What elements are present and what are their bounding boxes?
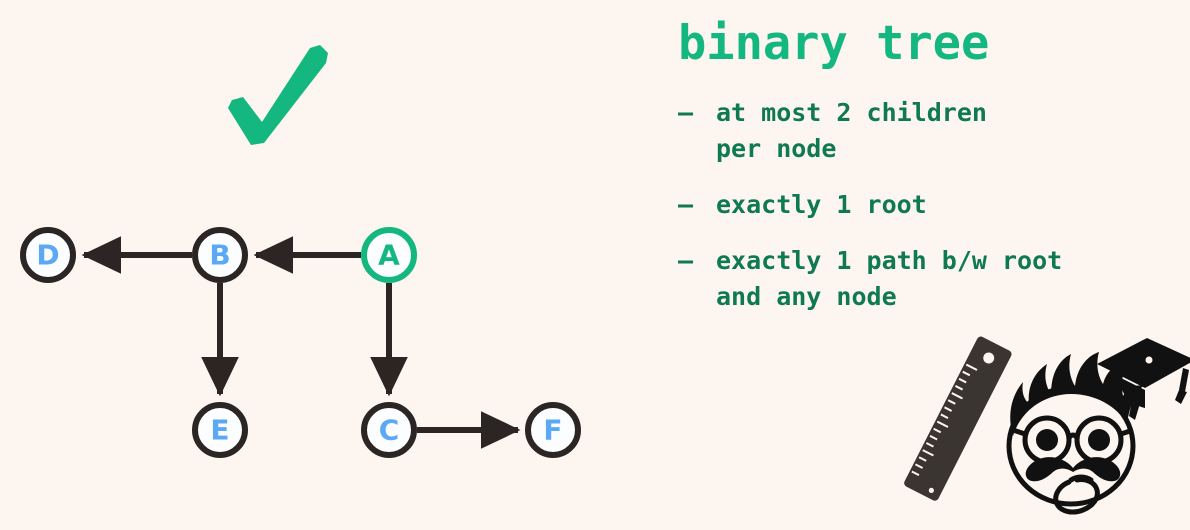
property-list: – at most 2 children per node – exactly … bbox=[678, 95, 1190, 335]
node-f-label: F bbox=[543, 414, 562, 447]
node-e[interactable]: E bbox=[195, 405, 245, 455]
node-c[interactable]: C bbox=[364, 405, 414, 455]
graph-edges bbox=[84, 255, 518, 430]
node-a-label: A bbox=[378, 239, 400, 272]
node-a-root[interactable]: A bbox=[364, 230, 414, 280]
green-checkmark-icon bbox=[228, 45, 328, 145]
list-item-label: exactly 1 root bbox=[716, 187, 927, 223]
list-item: – at most 2 children per node bbox=[678, 95, 1190, 167]
dash-bullet-icon: – bbox=[678, 95, 716, 131]
slide-canvas: D B A E C F binary bbox=[0, 0, 1190, 527]
dash-bullet-icon: – bbox=[678, 187, 716, 223]
node-b-label: B bbox=[209, 239, 230, 272]
node-c-label: C bbox=[379, 414, 400, 447]
binary-tree-diagram: D B A E C F bbox=[0, 0, 640, 527]
node-d[interactable]: D bbox=[23, 230, 73, 280]
list-item: – exactly 1 root bbox=[678, 187, 1190, 223]
list-item-label: exactly 1 path b/w root and any node bbox=[716, 243, 1062, 315]
page-title: binary tree bbox=[678, 18, 989, 70]
node-e-label: E bbox=[210, 414, 229, 447]
node-f[interactable]: F bbox=[528, 405, 578, 455]
professor-mascot-icon bbox=[895, 330, 1190, 530]
graph-nodes: D B A E C F bbox=[23, 230, 578, 455]
node-d-label: D bbox=[36, 239, 59, 272]
list-item: – exactly 1 path b/w root and any node bbox=[678, 243, 1190, 315]
node-b[interactable]: B bbox=[195, 230, 245, 280]
list-item-label: at most 2 children per node bbox=[716, 95, 987, 167]
ruler-icon bbox=[903, 335, 1013, 502]
dash-bullet-icon: – bbox=[678, 243, 716, 279]
